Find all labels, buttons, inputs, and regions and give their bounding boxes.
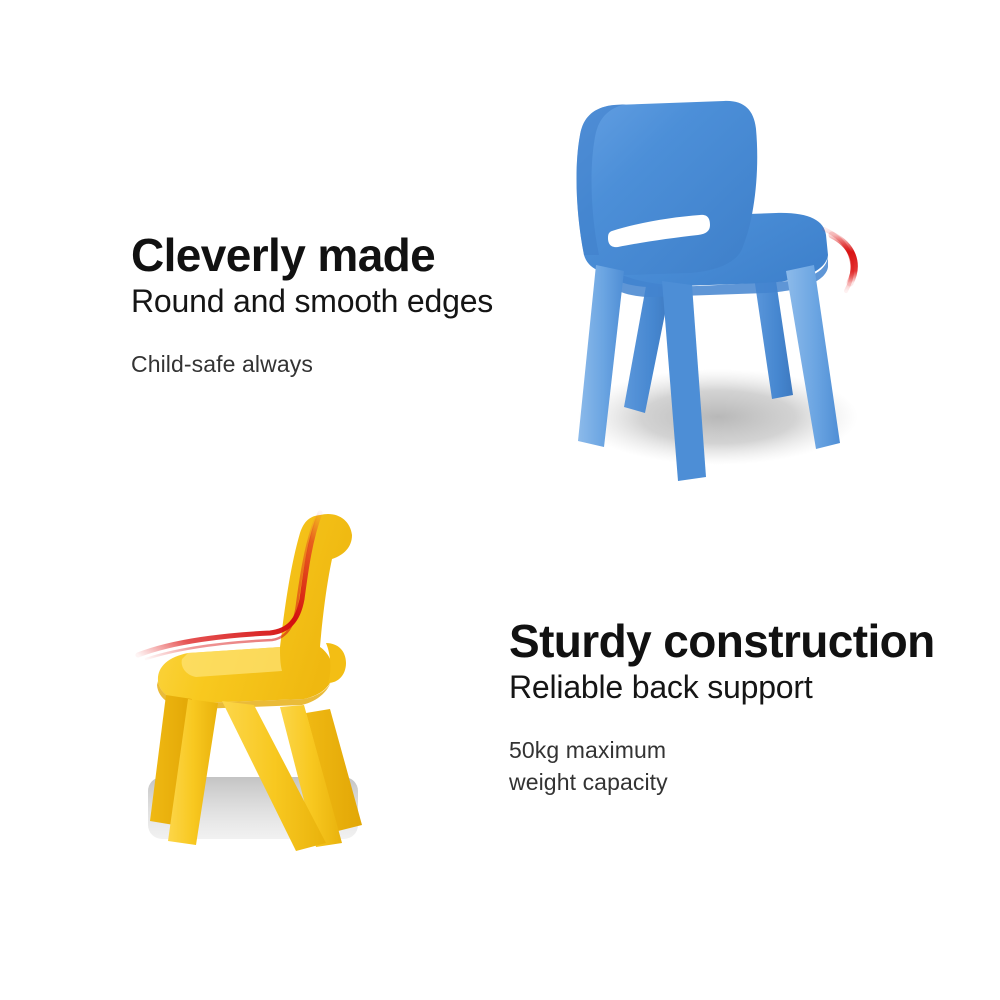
feature-detail-cleverly-made: Child-safe always <box>131 348 493 381</box>
feature-title-sturdy-construction: Sturdy construction <box>509 618 935 664</box>
blue-chair-backrest <box>577 101 758 275</box>
feature-subtitle-cleverly-made: Round and smooth edges <box>131 284 493 320</box>
feature-block-cleverly-made: Cleverly made Round and smooth edges Chi… <box>131 232 493 380</box>
feature-block-sturdy-construction: Sturdy construction Reliable back suppor… <box>509 618 935 799</box>
feature-title-cleverly-made: Cleverly made <box>131 232 493 278</box>
infographic-canvas: Cleverly made Round and smooth edges Chi… <box>0 0 1000 1000</box>
feature-subtitle-sturdy-construction: Reliable back support <box>509 670 935 706</box>
yellow-chair-shell <box>158 514 352 703</box>
yellow-chair-image <box>130 495 430 895</box>
feature-detail-sturdy-construction: 50kg maximum weight capacity <box>509 734 935 799</box>
blue-chair-image <box>540 95 900 495</box>
rounded-edge-accent-arc-outer <box>824 229 852 291</box>
